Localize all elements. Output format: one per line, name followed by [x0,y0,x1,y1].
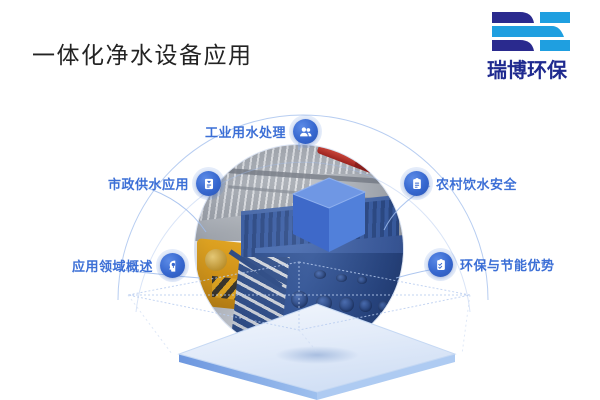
node-industrial-water[interactable]: 工业用水处理 [205,119,318,144]
node-label: 工业用水处理 [205,122,286,141]
logo-mark-icon [490,10,572,52]
node-application-overview[interactable]: 应用领域概述 [72,253,185,278]
clipboard-icon[interactable] [404,171,429,196]
node-municipal-supply[interactable]: 市政供水应用 [108,171,221,196]
node-label: 农村饮水安全 [436,174,517,193]
logo-wordmark: 瑞博环保 [468,54,586,83]
page-title: 一体化净水设备应用 [32,36,253,70]
checklist-icon[interactable] [428,252,453,277]
node-label: 环保与节能优势 [460,255,555,274]
node-label: 应用领域概述 [72,256,153,275]
slide-canvas: 一体化净水设备应用 瑞博环保 [0,0,600,400]
brand-logo: 瑞博环保 [468,8,586,82]
node-label: 市政供水应用 [108,174,189,193]
document-icon[interactable] [196,171,221,196]
node-eco-energy-advantage[interactable]: 环保与节能优势 [428,252,555,277]
node-rural-drinking-safety[interactable]: 农村饮水安全 [404,171,517,196]
base-platform [172,296,462,400]
head-idea-icon[interactable] [160,253,185,278]
users-icon[interactable] [293,119,318,144]
